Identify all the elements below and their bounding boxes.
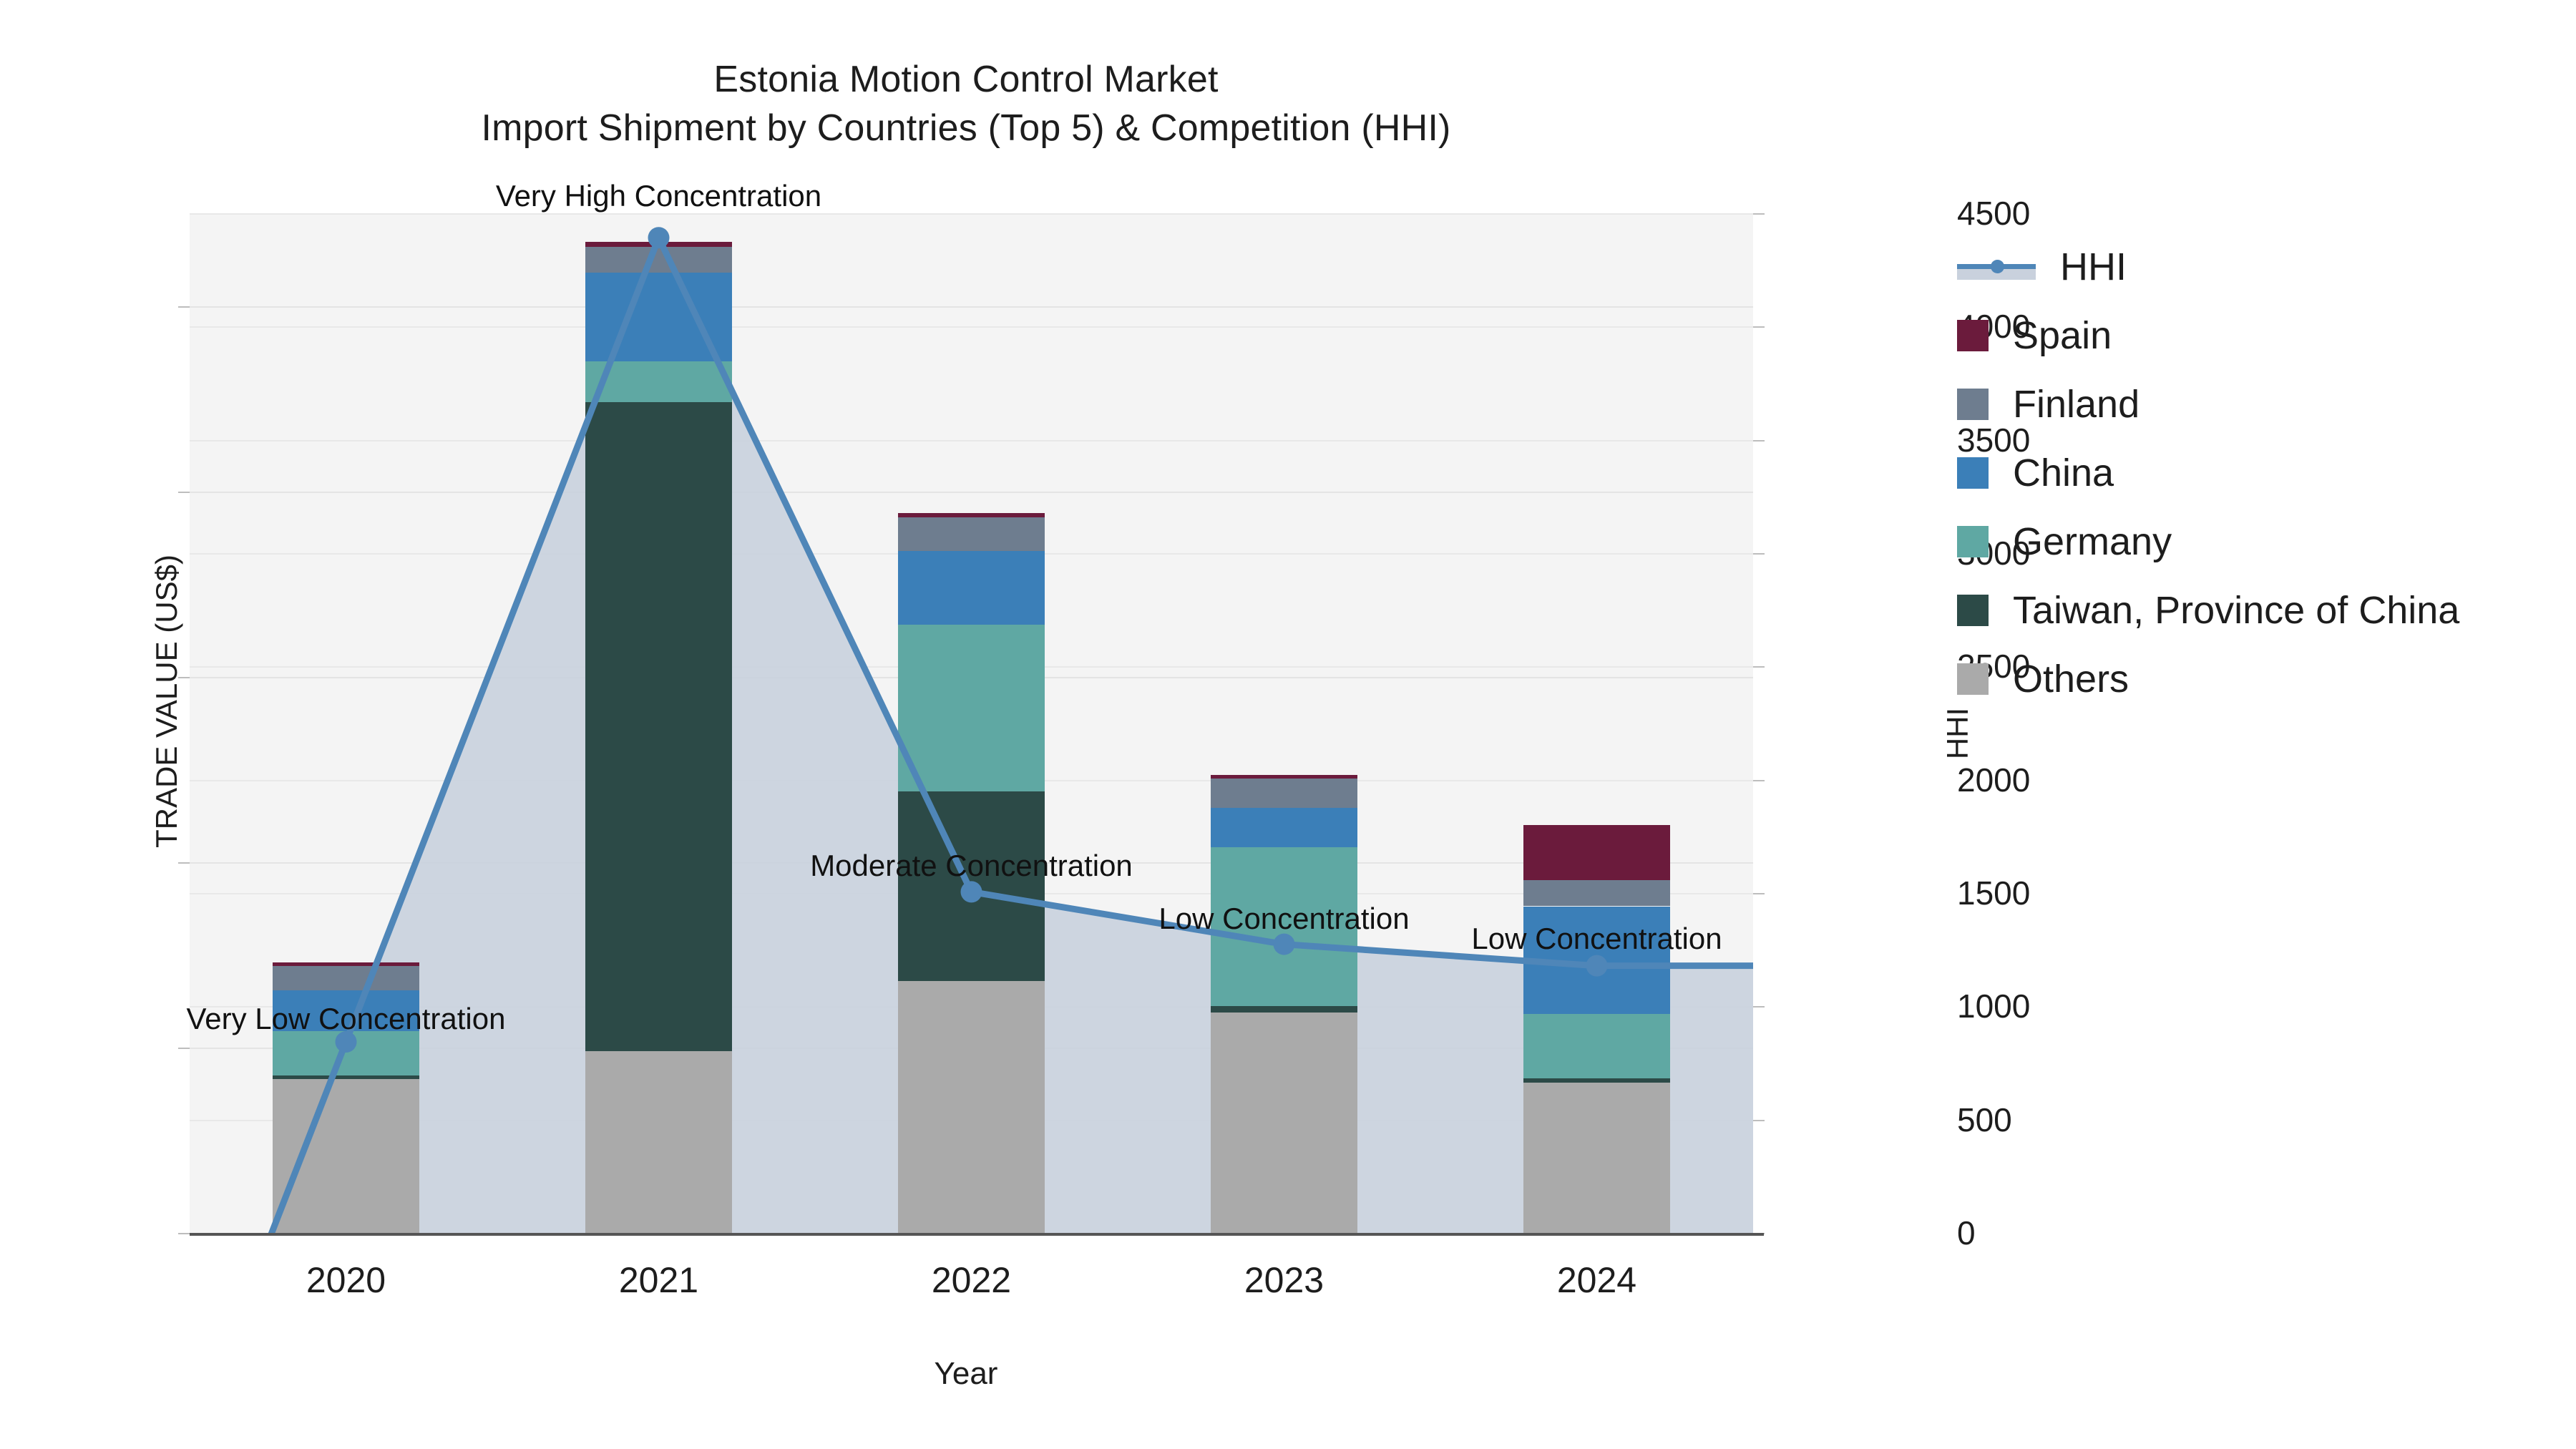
annotation-2021: Very High Concentration [496, 179, 821, 213]
y-tick-mark-right [1753, 666, 1765, 668]
y-tick-mark-right [1753, 326, 1765, 328]
y-axis-left-label: TRADE VALUE (US$) [150, 555, 184, 848]
y-tick-label-right: 1000 [1957, 987, 2200, 1025]
annotation-2024: Low Concentration [1471, 922, 1722, 956]
x-axis-line [190, 1233, 1764, 1236]
bar-segment[interactable] [898, 551, 1045, 625]
bar-2022[interactable] [898, 213, 1045, 1233]
chart-legend: HHISpainFinlandChinaGermanyTaiwan, Provi… [1957, 233, 2572, 713]
legend-color-swatch [1957, 526, 1989, 557]
annotation-2020: Very Low Concentration [187, 1002, 506, 1036]
bar-segment[interactable] [585, 242, 732, 246]
y-tick-mark-right [1753, 553, 1765, 555]
legend-item-hhi[interactable]: HHI [1957, 233, 2572, 301]
legend-item-taiwan-province-of-china[interactable]: Taiwan, Province of China [1957, 576, 2572, 645]
legend-color-swatch [1957, 389, 1989, 420]
bar-segment[interactable] [585, 247, 732, 273]
legend-item-germany[interactable]: Germany [1957, 507, 2572, 576]
bar-segment[interactable] [898, 625, 1045, 791]
y-tick-label-right: 500 [1957, 1101, 2200, 1139]
chart-subtitle: Import Shipment by Countries (Top 5) & C… [0, 104, 1932, 153]
legend-label: Finland [2013, 382, 2140, 426]
bar-segment[interactable] [1211, 808, 1357, 847]
y-tick-mark-right [1753, 440, 1765, 441]
bar-segment[interactable] [585, 273, 732, 361]
bar-segment[interactable] [898, 517, 1045, 551]
x-tick-label-2023: 2023 [1134, 1259, 1435, 1301]
bar-segment[interactable] [1523, 880, 1670, 906]
y-tick-mark-right [1753, 1006, 1765, 1008]
legend-label: Spain [2013, 313, 2112, 358]
bar-segment[interactable] [1523, 1014, 1670, 1079]
legend-item-finland[interactable]: Finland [1957, 370, 2572, 439]
legend-label: Germany [2013, 519, 2172, 564]
bar-segment[interactable] [273, 966, 419, 990]
bar-2020[interactable] [273, 213, 419, 1233]
bar-segment[interactable] [1211, 775, 1357, 779]
legend-line-swatch [1957, 251, 2036, 283]
legend-item-spain[interactable]: Spain [1957, 301, 2572, 370]
bar-segment[interactable] [273, 1075, 419, 1079]
chart-title: Estonia Motion Control Market [0, 56, 1932, 104]
y-tick-label-right: 1500 [1957, 874, 2200, 912]
bar-segment[interactable] [1211, 1006, 1357, 1012]
bar-segment[interactable] [273, 1031, 419, 1075]
legend-color-swatch [1957, 663, 1989, 695]
bar-2021[interactable] [585, 213, 732, 1233]
x-tick-label-2024: 2024 [1447, 1259, 1747, 1301]
bar-2024[interactable] [1523, 213, 1670, 1233]
bar-segment[interactable] [585, 402, 732, 1051]
bar-segment[interactable] [273, 1079, 419, 1233]
bar-segment[interactable] [273, 962, 419, 967]
y-tick-mark-right [1753, 893, 1765, 894]
y-tick-mark-right [1753, 213, 1765, 215]
legend-label: China [2013, 451, 2114, 495]
y-tick-mark-left [178, 306, 190, 308]
bar-segment[interactable] [1211, 779, 1357, 808]
y-tick-mark-left [178, 492, 190, 493]
y-tick-label-right: 2000 [1957, 761, 2200, 799]
legend-color-swatch [1957, 457, 1989, 489]
legend-color-swatch [1957, 320, 1989, 351]
bar-segment[interactable] [898, 981, 1045, 1233]
bar-segment[interactable] [1523, 825, 1670, 881]
bar-segment[interactable] [585, 1051, 732, 1233]
y-axis-right-label: HHI [1941, 708, 1975, 759]
bar-segment[interactable] [585, 361, 732, 402]
legend-item-china[interactable]: China [1957, 439, 2572, 507]
chart-title-block: Estonia Motion Control Market Import Shi… [0, 56, 1932, 152]
bar-segment[interactable] [898, 513, 1045, 517]
y-tick-label-right: 4500 [1957, 194, 2200, 233]
bar-2023[interactable] [1211, 213, 1357, 1233]
chart-figure: Estonia Motion Control Market Import Shi… [0, 0, 2576, 1449]
legend-color-swatch [1957, 595, 1989, 626]
x-tick-label-2021: 2021 [509, 1259, 809, 1301]
x-tick-label-2022: 2022 [821, 1259, 1122, 1301]
x-axis-label: Year [0, 1356, 1932, 1392]
y-tick-mark-left [178, 862, 190, 864]
y-tick-mark-left [178, 1233, 190, 1234]
legend-label: HHI [2060, 245, 2127, 289]
y-tick-label-right: 0 [1957, 1214, 2200, 1252]
bar-segment[interactable] [1523, 1083, 1670, 1233]
y-tick-mark-right [1753, 1120, 1765, 1121]
x-tick-label-2020: 2020 [196, 1259, 497, 1301]
y-tick-mark-left [178, 1048, 190, 1049]
bar-segment[interactable] [898, 791, 1045, 980]
bar-segment[interactable] [1523, 1078, 1670, 1083]
legend-label: Taiwan, Province of China [2013, 588, 2459, 633]
legend-item-others[interactable]: Others [1957, 645, 2572, 713]
y-tick-mark-right [1753, 780, 1765, 781]
annotation-2022: Moderate Concentration [810, 849, 1133, 883]
bar-segment[interactable] [1211, 1013, 1357, 1233]
plot-area: Very Low ConcentrationVery High Concentr… [190, 213, 1753, 1233]
annotation-2023: Low Concentration [1158, 902, 1409, 936]
legend-label: Others [2013, 657, 2129, 701]
